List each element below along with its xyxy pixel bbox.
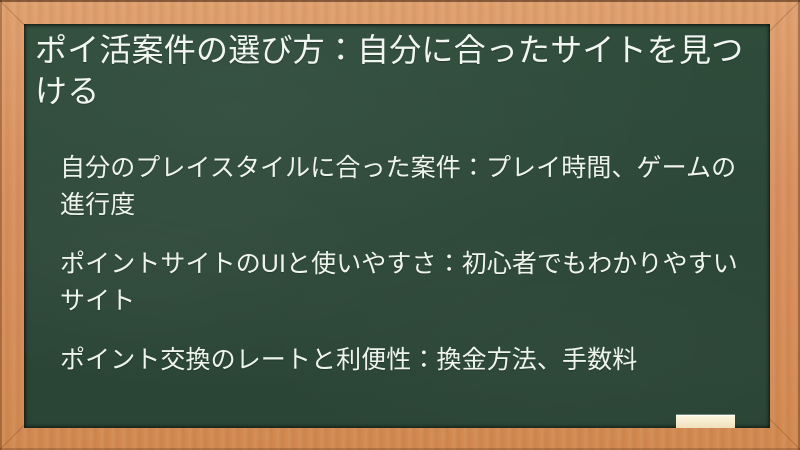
- bullet-list: 自分のプレイスタイルに合った案件：プレイ時間、ゲームの進行度 ポイントサイトのU…: [60, 150, 760, 379]
- bullet-item-2: ポイントサイトのUIと使いやすさ：初心者でもわかりやすいサイト: [60, 246, 760, 320]
- chalkboard-surface: ポイ活案件の選び方：自分に合ったサイトを見つける 自分のプレイスタイルに合った案…: [24, 24, 770, 428]
- bullet-item-3: ポイント交換のレートと利便性：換金方法、手数料: [60, 342, 760, 379]
- chalk-eraser-icon: [676, 415, 735, 428]
- slide-canvas: ポイ活案件の選び方：自分に合ったサイトを見つける 自分のプレイスタイルに合った案…: [0, 0, 800, 450]
- bullet-item-1: 自分のプレイスタイルに合った案件：プレイ時間、ゲームの進行度: [60, 150, 760, 224]
- slide-content: ポイ活案件の選び方：自分に合ったサイトを見つける 自分のプレイスタイルに合った案…: [24, 24, 770, 428]
- slide-title: ポイ活案件の選び方：自分に合ったサイトを見つける: [35, 30, 755, 112]
